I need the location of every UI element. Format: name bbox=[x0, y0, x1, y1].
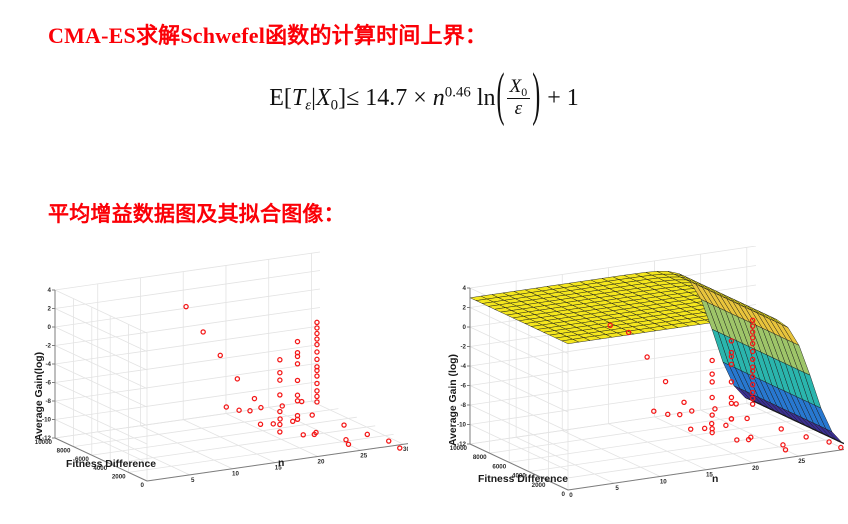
data-point bbox=[235, 377, 239, 381]
formula-X: X bbox=[316, 85, 331, 111]
formula-coefficient: 14.7 bbox=[365, 85, 407, 111]
data-point bbox=[259, 406, 263, 410]
ytick-label: 25 bbox=[360, 452, 367, 459]
xtick-label: 8000 bbox=[473, 454, 487, 461]
formula-T: T bbox=[292, 85, 305, 111]
formula-frac-num-sub: 0 bbox=[521, 85, 527, 99]
ytick-label: 10 bbox=[660, 478, 667, 485]
data-point bbox=[652, 409, 656, 413]
zaxis-label: Average Gain (log) bbox=[448, 354, 459, 446]
surface-svg: 420-2-4-6-8-10-1210000800060004000200000… bbox=[424, 246, 844, 524]
formula-plus: + bbox=[547, 85, 561, 111]
data-point bbox=[271, 422, 275, 426]
ztick-label: 2 bbox=[463, 305, 467, 312]
ztick-label: 2 bbox=[48, 306, 52, 313]
data-point bbox=[734, 402, 738, 406]
yaxis-label: n bbox=[278, 458, 284, 469]
data-point bbox=[342, 423, 346, 427]
scatter-svg: 420-2-4-6-8-10-1210000800060004000200005… bbox=[8, 246, 408, 518]
xtick-label: 0 bbox=[562, 491, 566, 498]
data-point bbox=[745, 416, 749, 420]
data-point bbox=[278, 378, 282, 382]
ztick-label: 4 bbox=[463, 285, 467, 292]
data-point bbox=[710, 372, 714, 376]
formula-times: × bbox=[413, 85, 427, 111]
ztick-label: 4 bbox=[48, 287, 52, 294]
xtick-label: 6000 bbox=[492, 463, 506, 470]
data-point bbox=[252, 396, 256, 400]
data-point bbox=[295, 393, 299, 397]
data-point bbox=[295, 378, 299, 382]
data-point bbox=[295, 362, 299, 366]
data-point bbox=[278, 430, 282, 434]
data-point bbox=[300, 399, 304, 403]
formula-n-exponent: 0.46 bbox=[445, 85, 471, 101]
ztick-label: -8 bbox=[45, 398, 51, 405]
chart-left-scatter: 420-2-4-6-8-10-1210000800060004000200005… bbox=[8, 246, 408, 518]
data-point bbox=[248, 409, 252, 413]
data-point bbox=[710, 380, 714, 384]
ztick-label: 0 bbox=[463, 324, 467, 331]
ztick-label: -8 bbox=[460, 402, 466, 409]
ytick-label: 20 bbox=[752, 465, 759, 472]
data-point bbox=[703, 426, 707, 430]
formula-fraction: X0ε bbox=[507, 77, 531, 120]
data-point bbox=[398, 446, 402, 450]
formula-ln: ln bbox=[477, 85, 496, 111]
ztick-label: -2 bbox=[45, 343, 51, 350]
data-point bbox=[710, 358, 714, 362]
data-point bbox=[365, 432, 369, 436]
data-point bbox=[315, 374, 319, 378]
chart-right-surface: 420-2-4-6-8-10-1210000800060004000200000… bbox=[424, 246, 844, 524]
data-point bbox=[729, 395, 733, 399]
data-point bbox=[663, 380, 667, 384]
data-point bbox=[682, 400, 686, 404]
data-point bbox=[295, 339, 299, 343]
data-point bbox=[310, 413, 314, 417]
formula-frac-den: ε bbox=[507, 98, 531, 119]
data-point bbox=[710, 421, 714, 425]
formula-relation: ≤ bbox=[346, 85, 359, 111]
data-point bbox=[315, 389, 319, 393]
data-point bbox=[710, 395, 714, 399]
data-point bbox=[729, 401, 733, 405]
ztick-label: -4 bbox=[45, 361, 51, 368]
ytick-label: 5 bbox=[191, 477, 195, 484]
xtick-label: 8000 bbox=[57, 448, 71, 455]
formula-E: E bbox=[269, 85, 284, 111]
xaxis-label: Fitness Difference bbox=[478, 474, 568, 485]
grid-lines bbox=[55, 252, 408, 481]
formula-paren-open: ( bbox=[497, 64, 505, 130]
ztick-label: -4 bbox=[460, 363, 466, 370]
data-point bbox=[779, 427, 783, 431]
data-point bbox=[804, 435, 808, 439]
ytick-label: 0 bbox=[569, 492, 573, 499]
ytick-label: 10 bbox=[232, 471, 239, 478]
slide-canvas: CMA-ES求解Schwefel函数的计算时间上界： E[Tε|X0]≤ 14.… bbox=[0, 0, 848, 524]
ytick-label: 30 bbox=[403, 446, 408, 453]
ytick-label: 25 bbox=[798, 458, 805, 465]
data-point bbox=[724, 423, 728, 427]
data-point bbox=[295, 399, 299, 403]
data-point bbox=[315, 337, 319, 341]
data-point bbox=[218, 353, 222, 357]
data-point bbox=[315, 350, 319, 354]
data-point bbox=[278, 422, 282, 426]
ztick-label: -2 bbox=[460, 344, 466, 351]
data-point bbox=[278, 393, 282, 397]
xtick-label: 2000 bbox=[112, 473, 126, 480]
xtick-label: 0 bbox=[141, 482, 145, 489]
ztick-label: 0 bbox=[48, 324, 52, 331]
data-point bbox=[315, 357, 319, 361]
data-point bbox=[387, 439, 391, 443]
xaxis-label: Fitness Difference bbox=[66, 459, 156, 470]
formula-bracket-open: [ bbox=[284, 85, 292, 111]
data-point bbox=[278, 371, 282, 375]
data-point bbox=[689, 427, 693, 431]
ztick-label: -6 bbox=[45, 380, 51, 387]
formula-n: n bbox=[433, 85, 445, 111]
data-point bbox=[315, 331, 319, 335]
data-point bbox=[645, 355, 649, 359]
formula-expression: E[Tε|X0]≤ 14.7 × n0.46 ln(X0ε) + 1 bbox=[0, 78, 848, 121]
data-point bbox=[315, 394, 319, 398]
data-point bbox=[258, 422, 262, 426]
section-title: 平均增益数据图及其拟合图像： bbox=[48, 198, 345, 228]
data-point bbox=[278, 358, 282, 362]
formula-X-subscript: 0 bbox=[331, 98, 338, 114]
formula-constant: 1 bbox=[567, 85, 579, 111]
ytick-label: 20 bbox=[318, 458, 325, 465]
data-point bbox=[666, 412, 670, 416]
data-point bbox=[201, 330, 205, 334]
formula-bracket-close: ] bbox=[338, 85, 346, 111]
ytick-label: 5 bbox=[615, 485, 619, 492]
data-point bbox=[315, 320, 319, 324]
formula-paren-close: ) bbox=[532, 64, 540, 130]
axis-lines bbox=[52, 290, 408, 481]
yaxis-label: n bbox=[712, 474, 718, 485]
data-point bbox=[713, 407, 717, 411]
ztick-label: -6 bbox=[460, 383, 466, 390]
data-point bbox=[278, 417, 282, 421]
page-title: CMA-ES求解Schwefel函数的计算时间上界： bbox=[48, 18, 487, 50]
data-point bbox=[291, 419, 295, 423]
formula-frac-num-X: X bbox=[510, 76, 522, 97]
zaxis-label: Average Gain(log) bbox=[34, 352, 45, 441]
